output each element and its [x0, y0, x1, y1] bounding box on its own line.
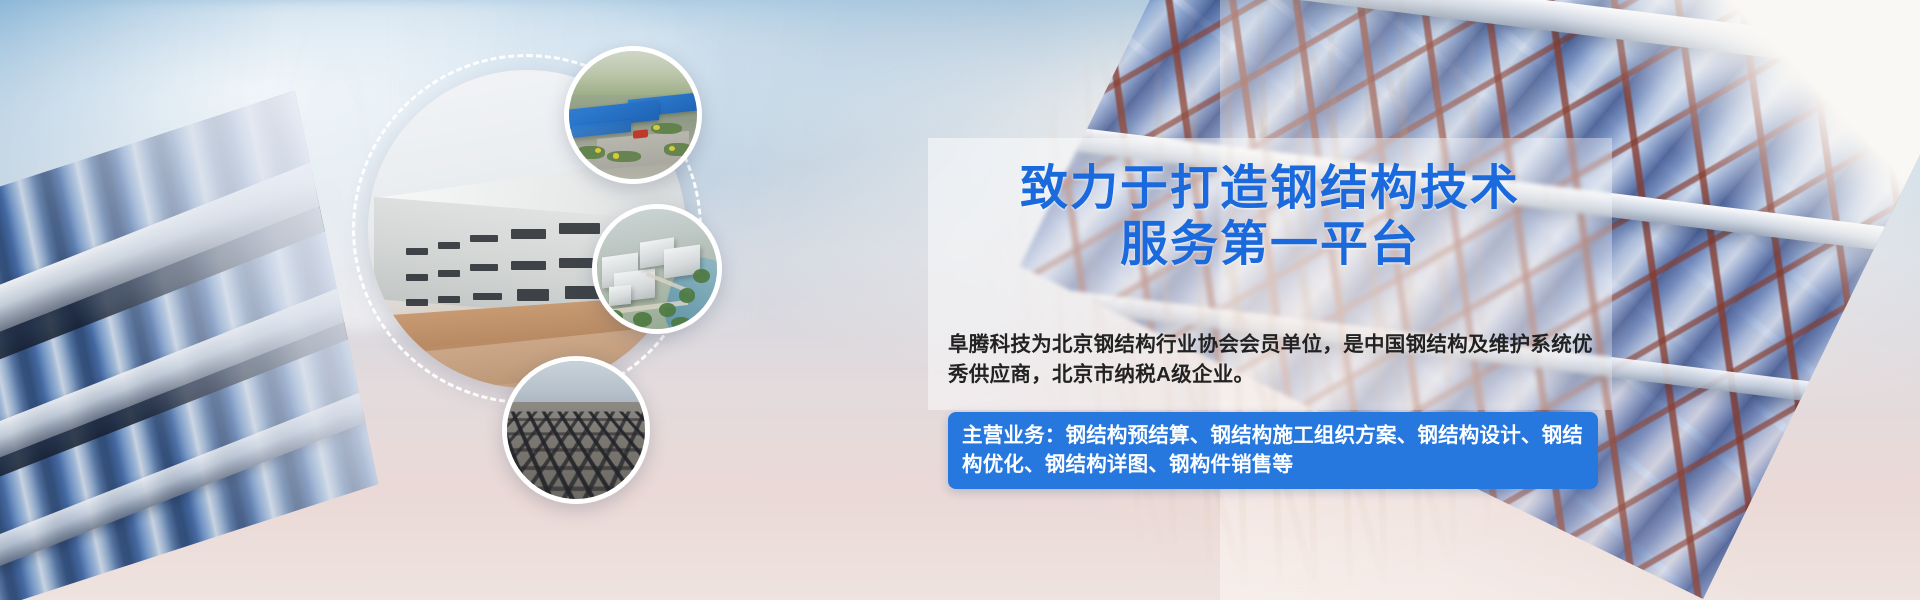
- left-tower-fade: [0, 91, 378, 600]
- truss-sky: [507, 361, 645, 408]
- photo-blue-roof-factory-aerial: [564, 46, 702, 184]
- banner-subtext: 阜腾科技为北京钢结构行业协会会员单位，是中国钢结构及维护系统优秀供应商，北京市纳…: [948, 330, 1598, 389]
- photo-circle-cluster: [360, 48, 780, 528]
- headline-line-1: 致力于打造钢结构技术: [1020, 160, 1520, 216]
- factory-sky: [569, 51, 697, 97]
- background-skyscraper-right: [1020, 0, 1920, 599]
- right-tower-sky-fade: [1020, 0, 1920, 599]
- background-skyscraper-left: [0, 91, 378, 600]
- photo-steel-space-frame: [502, 356, 650, 504]
- photo-campus-river-aerial: [592, 204, 722, 334]
- hero-banner: 致力于打造钢结构技术 服务第一平台 阜腾科技为北京钢结构行业协会会员单位，是中国…: [0, 0, 1920, 600]
- banner-headline: 致力于打造钢结构技术 服务第一平台: [940, 160, 1600, 272]
- business-scope-box: 主营业务：钢结构预结算、钢结构施工组织方案、钢结构设计、钢结构优化、钢结构详图、…: [948, 412, 1598, 489]
- truss-steel-grid: [502, 411, 650, 504]
- headline-line-2: 服务第一平台: [940, 216, 1600, 272]
